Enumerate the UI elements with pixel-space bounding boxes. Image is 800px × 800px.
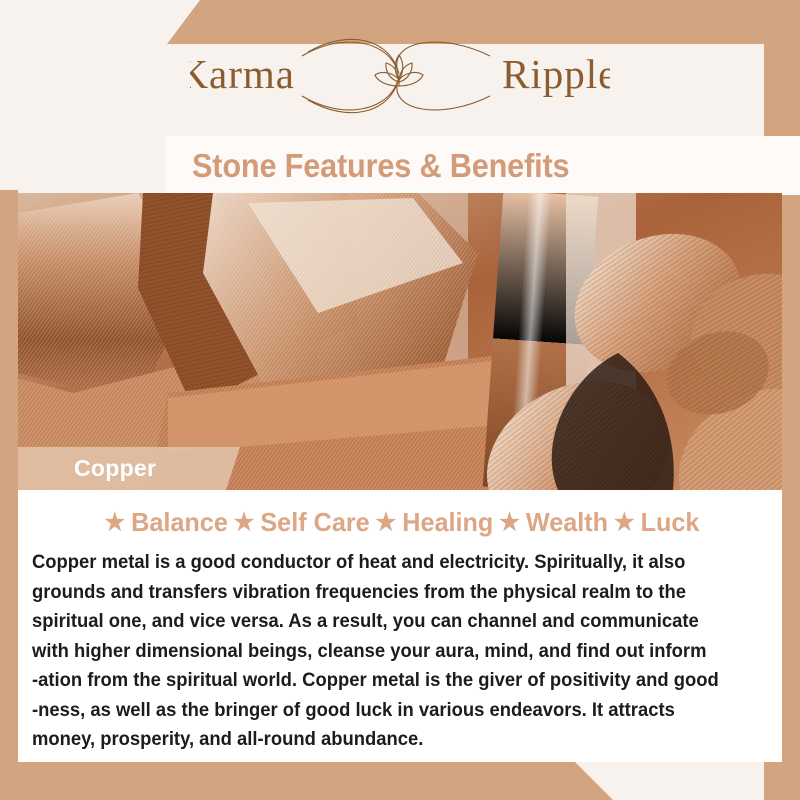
- frame-bottom-band: [0, 762, 800, 800]
- brand-name-right: Ripple: [502, 51, 610, 97]
- hero-caption: Copper: [18, 447, 240, 490]
- lotus-icon: Karma Ripple: [190, 30, 610, 122]
- star-icon: ★: [376, 511, 397, 535]
- brand-name-left: Karma: [190, 51, 295, 97]
- benefit-item-balance: Balance: [131, 507, 228, 538]
- star-icon: ★: [234, 511, 255, 535]
- content-card: ★ Balance ★ Self Care ★ Healing ★ Wealth…: [18, 490, 782, 762]
- product-infographic: Karma Ripple Stone Features & Benefits: [0, 0, 800, 800]
- description-line: with higher dimensional beings, cleanse …: [32, 637, 740, 667]
- benefit-item-wealth: Wealth: [526, 507, 608, 538]
- brand-logo: Karma Ripple: [0, 30, 800, 122]
- benefits-row: ★ Balance ★ Self Care ★ Healing ★ Wealth…: [29, 507, 770, 538]
- star-icon: ★: [499, 511, 520, 535]
- frame-left-band: [0, 190, 18, 800]
- hero-image: [18, 193, 782, 490]
- benefit-item-luck: Luck: [641, 507, 700, 538]
- description-line: Copper metal is a good conductor of heat…: [32, 548, 740, 578]
- page-title: Stone Features & Benefits: [192, 147, 569, 185]
- description-line: spiritual one, and vice versa. As a resu…: [32, 607, 740, 637]
- description-line: grounds and transfers vibration frequenc…: [32, 578, 740, 608]
- star-icon: ★: [614, 511, 635, 535]
- copper-bars-photo: [18, 193, 782, 490]
- benefit-item-healing: Healing: [402, 507, 493, 538]
- description-line: -ation from the spiritual world. Copper …: [32, 666, 740, 696]
- description-paragraph: Copper metal is a good conductor of heat…: [32, 548, 740, 755]
- star-icon: ★: [104, 511, 125, 535]
- hero-caption-label: Copper: [74, 455, 156, 482]
- description-line: money, prosperity, and all-round abundan…: [32, 725, 740, 755]
- title-banner: Stone Features & Benefits: [165, 136, 800, 195]
- description-line: -ness, as well as the bringer of good lu…: [32, 696, 740, 726]
- benefit-item-self-care: Self Care: [260, 507, 369, 538]
